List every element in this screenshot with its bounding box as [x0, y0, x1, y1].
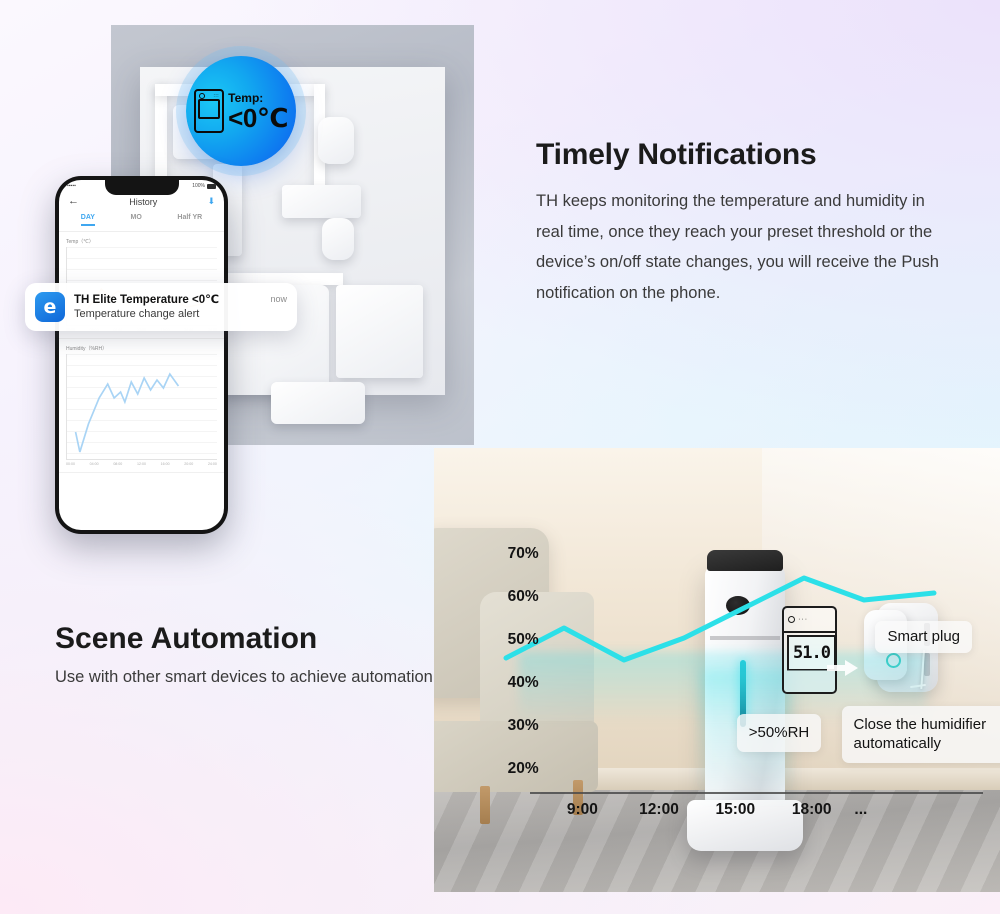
notifications-heading: Timely Notifications: [536, 138, 956, 172]
tick: 12:00: [137, 462, 146, 466]
room-furniture: [318, 117, 354, 163]
device-led-icon: [199, 93, 205, 99]
status-battery-text: 100%: [192, 183, 205, 189]
x-tick: 12:00: [639, 801, 679, 819]
tick: 08:00: [113, 462, 122, 466]
notifications-body: TH keeps monitoring the temperature and …: [536, 186, 956, 308]
chart-y-axis: 70% 60% 50% 40% 30% 20%: [508, 546, 539, 777]
y-tick: 70%: [508, 546, 539, 562]
tick: 16:00: [161, 462, 170, 466]
th-device-icon: :::: [194, 89, 224, 133]
phone-mockup: ▪▪▪▪▪ 100% ← History ⬇ DAY MO Half YR Te…: [55, 176, 228, 534]
page-title: History: [129, 197, 157, 207]
tick: 24:00: [208, 462, 217, 466]
x-tick: ...: [854, 801, 867, 819]
device-dashes-icon: :::: [214, 94, 220, 99]
room-furniture: [322, 218, 355, 260]
notification-timestamp: now: [270, 292, 287, 304]
tick: 04:00: [90, 462, 99, 466]
threshold-callout: >50%RH: [737, 714, 821, 752]
y-tick: 20%: [508, 761, 539, 777]
y-tick: 40%: [508, 675, 539, 691]
temp-chart-label: Temp（℃）: [66, 238, 217, 245]
phone-tabs: DAY MO Half YR: [59, 212, 224, 232]
humidity-x-axis: 00:00 04:00 08:00 12:00 16:00 20:00 24:0…: [66, 460, 217, 466]
tick: 20:00: [184, 462, 193, 466]
humidity-timeline-chart: 70% 60% 50% 40% 30% 20% 9:00 12:00 15:00…: [434, 448, 1000, 892]
tab-month[interactable]: MO: [131, 214, 142, 226]
y-tick: 30%: [508, 718, 539, 734]
battery-icon: [207, 184, 216, 189]
feature-page: ::: Temp: <0℃ ▪▪▪▪▪ 100% ← History ⬇: [0, 0, 1000, 914]
humidity-line: [67, 354, 217, 459]
ewelink-app-icon: e: [35, 292, 65, 322]
notifications-text-block: Timely Notifications TH keeps monitoring…: [536, 138, 956, 308]
th-sensor-device: ··· 51.0: [782, 606, 837, 694]
humidity-chart: Humidity（%RH） 00:00 04:00 08:00 12:00 16…: [59, 339, 224, 473]
sensor-dashes-icon: ···: [798, 616, 808, 623]
room-furniture: [282, 185, 362, 219]
sensor-reading: 51.0: [793, 643, 830, 663]
action-callout: Close the humidifier automatically: [842, 706, 1000, 763]
notification-subtitle: Temperature change alert: [74, 307, 261, 321]
push-notification-toast[interactable]: e TH Elite Temperature <0℃ Temperature c…: [25, 283, 297, 331]
y-tick: 50%: [508, 632, 539, 648]
chart-x-axis: 9:00 12:00 15:00 18:00 ...: [530, 801, 988, 819]
room-furniture: [271, 382, 365, 424]
sensor-top-bar: ···: [784, 608, 835, 633]
room-furniture: [336, 285, 423, 377]
scene-body: Use with other smart devices to achieve …: [55, 664, 445, 690]
temperature-alert-badge: ::: Temp: <0℃: [186, 56, 296, 166]
arrow-right-icon: [827, 659, 859, 677]
x-tick: 18:00: [792, 801, 832, 819]
x-tick: 9:00: [567, 801, 598, 819]
notification-title: TH Elite Temperature <0℃: [74, 293, 261, 307]
scene-automation-image: 70% 60% 50% 40% 30% 20% 9:00 12:00 15:00…: [434, 448, 1000, 892]
scene-heading: Scene Automation: [55, 622, 445, 656]
sensor-led-icon: [788, 616, 795, 623]
phone-screen: ▪▪▪▪▪ 100% ← History ⬇ DAY MO Half YR Te…: [59, 180, 224, 530]
back-arrow-icon[interactable]: ←: [68, 196, 79, 207]
tab-half-year[interactable]: Half YR: [177, 214, 202, 226]
status-signal: ▪▪▪▪▪: [67, 183, 76, 189]
chart-x-axis-line: [530, 792, 983, 794]
tab-day[interactable]: DAY: [81, 214, 95, 226]
smart-plug-callout: Smart plug: [875, 621, 972, 653]
temp-badge-label: Temp:: [228, 92, 263, 104]
humidity-plot: [66, 354, 217, 460]
y-tick: 60%: [508, 589, 539, 605]
phone-notch: [105, 180, 179, 195]
tick: 00:00: [66, 462, 75, 466]
temp-badge-value: <0℃: [228, 105, 288, 131]
download-icon[interactable]: ⬇: [207, 197, 215, 206]
humidity-chart-label: Humidity（%RH）: [66, 345, 217, 352]
x-tick: 15:00: [716, 801, 756, 819]
scene-text-block: Scene Automation Use with other smart de…: [55, 622, 445, 690]
